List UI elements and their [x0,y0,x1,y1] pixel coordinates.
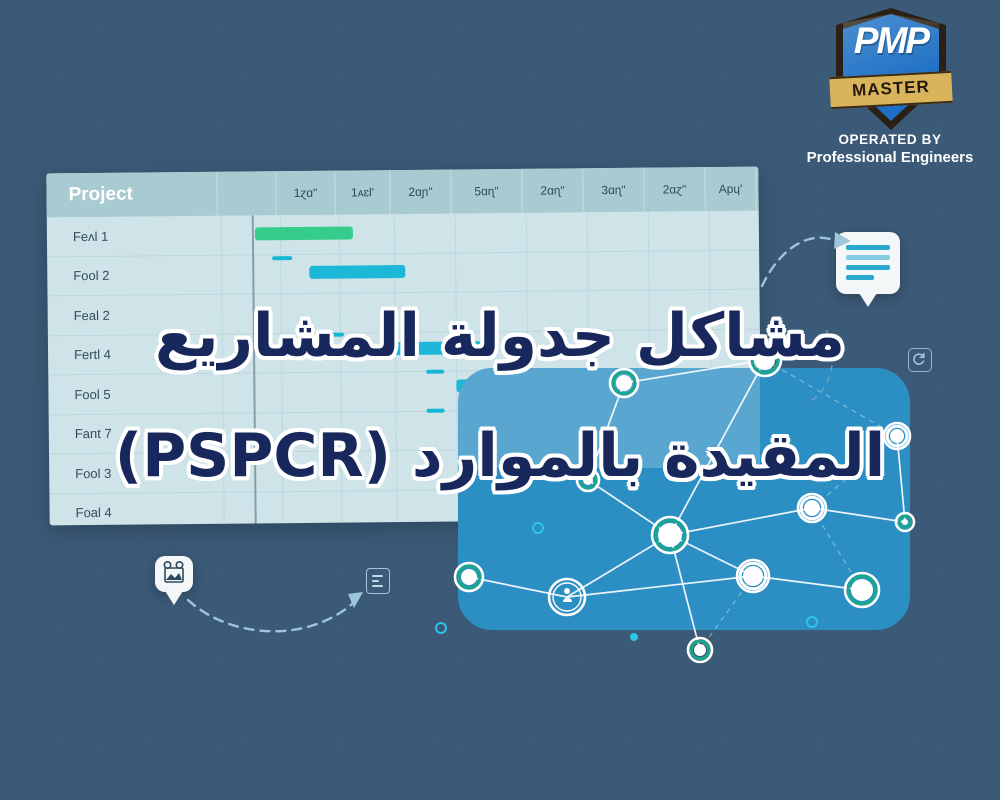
arrow-curved-right-icon [188,600,352,631]
network-edge [567,576,753,597]
company-label: Professional Engineers [790,149,990,166]
gantt-col-header: Apɥ' [705,167,756,211]
gantt-col-spacer [217,171,276,216]
network-small-dot [533,523,543,533]
gantt-col-project: Project [46,172,217,218]
network-small-dot [630,633,638,641]
network-small-dot [807,617,817,627]
logo-master-text: MASTER [829,73,952,105]
logo-ribbon: MASTER [829,71,953,109]
gantt-col-header: 2ɑɲ" [390,170,451,215]
gantt-row-label: Feʌl 1 [47,216,222,256]
network-node[interactable] [737,560,769,592]
arrow-head-bottom [348,592,363,608]
gantt-col-header: 5ɑɳ" [451,169,522,214]
network-node[interactable] [688,638,712,662]
gantt-row[interactable]: Feʌl 1 [47,211,759,257]
gantt-col-header: Treɥaɪl [756,167,761,211]
brand-logo: PMP MASTER OPERATED BY Professional Engi… [790,6,990,166]
gantt-col-header: 3ɑɳ" [583,168,644,213]
gantt-bar[interactable] [255,226,353,240]
gantt-col-header: 2ɑɀ" [644,167,705,212]
gantt-col-header: 1ᴀɛl' [335,170,390,215]
title-line-1: مشاكل جدولة المشاريع [0,276,1000,396]
gantt-col-header: 2ɑɳ" [522,168,583,213]
page-title: مشاكل جدولة المشاريع المقيدة بالموارد (P… [0,276,1000,516]
network-node[interactable] [652,517,688,553]
gantt-mini-tick [272,256,292,260]
image-bubble-icon [155,556,193,592]
shield-icon: PMP MASTER [836,8,946,130]
network-small-dot [436,623,446,633]
logo-pmp-text: PMP [836,20,946,62]
title-line-2: المقيدة بالموارد (PSPCR) [0,396,1000,516]
network-node[interactable] [455,563,483,591]
gantt-header-row: Project1ɀɑ"1ᴀɛl'2ɑɲ"5ɑɳ"2ɑɳ"3ɑɳ"2ɑɀ"Apɥ'… [46,167,758,218]
poster-canvas: PMP MASTER OPERATED BY Professional Engi… [0,0,1000,800]
network-node[interactable] [845,573,879,607]
list-chip-icon [366,568,390,594]
photo-glyph [155,556,193,592]
gantt-col-header: 1ɀɑ" [276,171,335,216]
operated-by-label: OPERATED BY [790,132,990,147]
